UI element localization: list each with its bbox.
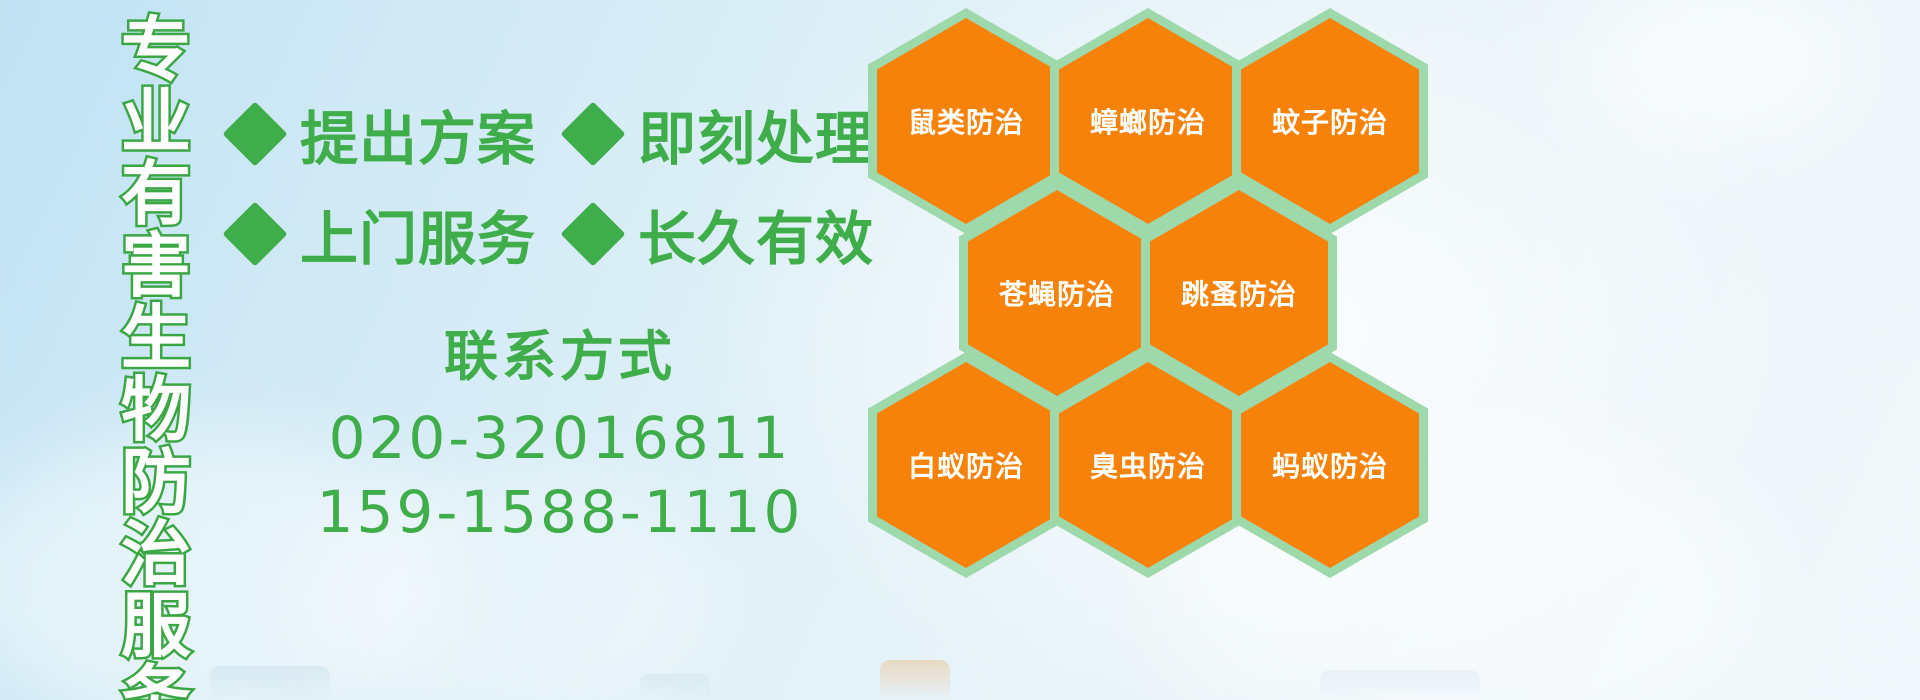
hex-inner: 蚊子防治 — [1241, 18, 1419, 224]
service-hex-grid: 鼠类防治 蟑螂防治 蚊子防治 苍蝇防治 跳蚤防治 白蚁防治 臭虫防治 蚂蚁防治 — [860, 0, 1460, 560]
service-hex-label: 跳蚤防治 — [1181, 273, 1297, 313]
service-hex-label: 蟑螂防治 — [1090, 101, 1206, 141]
feature-item: 上门服务 — [232, 192, 536, 276]
vertical-headline-char: 治 — [121, 518, 191, 590]
hex-inner: 臭虫防治 — [1059, 362, 1237, 568]
diamond-bullet-icon — [222, 101, 287, 166]
feature-row: 上门服务 长久有效 — [232, 184, 872, 284]
vertical-headline-char: 害 — [121, 230, 191, 302]
feature-label: 上门服务 — [300, 192, 536, 276]
vertical-headline-char: 有 — [121, 158, 191, 230]
contact-title: 联系方式 — [300, 312, 820, 391]
background-shape-4 — [1320, 670, 1480, 700]
contact-block: 联系方式 020-32016811 159-1588-1110 — [300, 312, 820, 549]
vertical-headline-char: 专 — [121, 14, 191, 86]
service-hex-label: 苍蝇防治 — [999, 273, 1115, 313]
hex-inner: 跳蚤防治 — [1150, 190, 1328, 396]
vertical-headline-char: 生 — [121, 302, 191, 374]
hex-inner: 鼠类防治 — [877, 18, 1055, 224]
vertical-headline-char: 防 — [121, 446, 191, 518]
vertical-headline-char: 业 — [121, 86, 191, 158]
diamond-bullet-icon — [560, 201, 625, 266]
feature-list: 提出方案 即刻处理 上门服务 长久有效 — [232, 84, 872, 284]
diamond-bullet-icon — [560, 101, 625, 166]
hex-inner: 蚂蚁防治 — [1241, 362, 1419, 568]
hex-inner: 苍蝇防治 — [968, 190, 1146, 396]
feature-item: 提出方案 — [232, 92, 536, 176]
service-hex-label: 白蚁防治 — [908, 445, 1024, 485]
vertical-headline: 专 业 有 害 生 物 防 治 服 务 — [104, 14, 208, 674]
hex-inner: 蟑螂防治 — [1059, 18, 1237, 224]
feature-label: 长久有效 — [638, 192, 874, 276]
contact-phone-landline[interactable]: 020-32016811 — [300, 401, 820, 475]
diamond-bullet-icon — [222, 201, 287, 266]
background-shape-2 — [640, 674, 710, 700]
service-hex-label: 蚊子防治 — [1272, 101, 1388, 141]
background-glow-top-right — [1560, 0, 1860, 160]
feature-label: 即刻处理 — [638, 92, 874, 176]
background-shape-3 — [880, 660, 950, 700]
service-hex-label: 蚂蚁防治 — [1272, 445, 1388, 485]
service-hex-label: 臭虫防治 — [1090, 445, 1206, 485]
feature-item: 即刻处理 — [570, 92, 874, 176]
feature-row: 提出方案 即刻处理 — [232, 84, 872, 184]
vertical-headline-char: 服 — [121, 590, 191, 662]
hex-inner: 白蚁防治 — [877, 362, 1055, 568]
vertical-headline-char: 物 — [121, 374, 191, 446]
vertical-headline-char: 务 — [121, 662, 191, 700]
service-hex-label: 鼠类防治 — [908, 101, 1024, 141]
feature-item: 长久有效 — [570, 192, 874, 276]
feature-label: 提出方案 — [300, 92, 536, 176]
background-shape-1 — [210, 666, 330, 700]
contact-phone-mobile[interactable]: 159-1588-1110 — [300, 475, 820, 549]
